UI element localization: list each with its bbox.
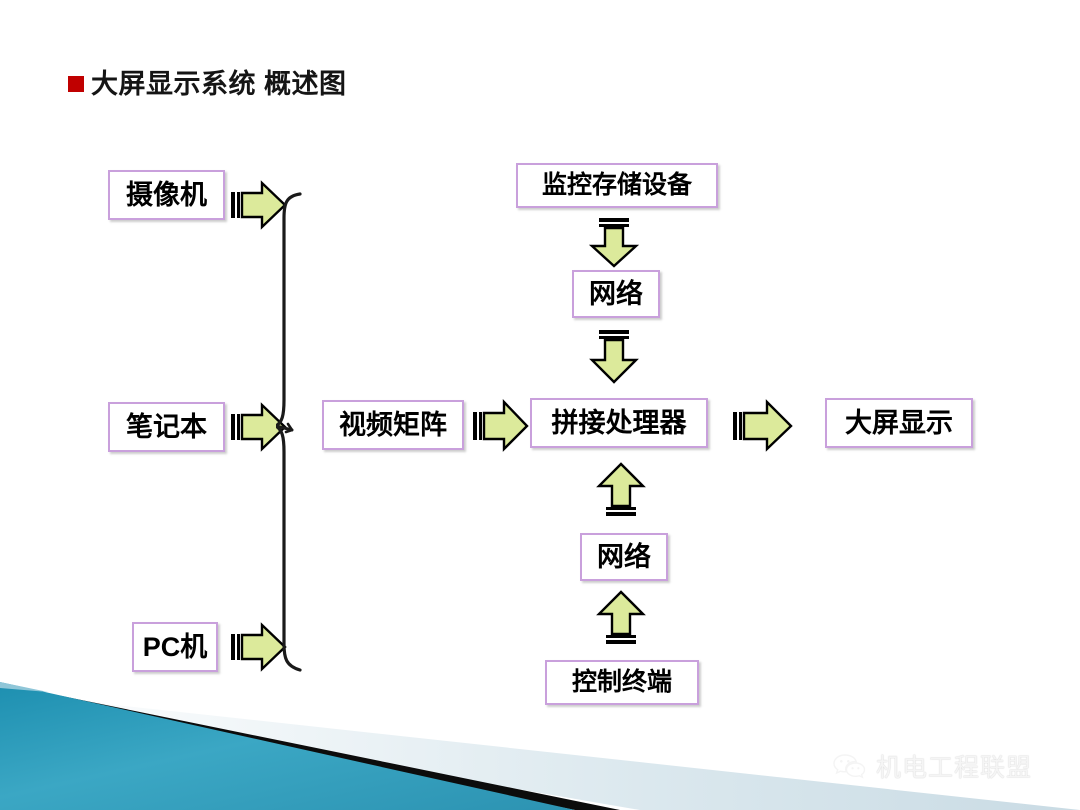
- title-bullet-icon: [68, 76, 84, 92]
- deco-black-stripe: [30, 694, 620, 810]
- arrow-storage-to-network-top: [587, 218, 643, 268]
- node-pc[interactable]: PC机: [132, 622, 218, 672]
- node-network-bottom-label: 网络: [597, 544, 651, 571]
- arrow-matrix-to-splicer: [473, 400, 529, 450]
- node-pc-label: PC机: [143, 634, 208, 661]
- node-network-bottom[interactable]: 网络: [580, 533, 668, 581]
- node-network-top-label: 网络: [589, 281, 643, 308]
- node-splicing-processor[interactable]: 拼接处理器: [530, 398, 708, 448]
- node-laptop-label: 笔记本: [126, 414, 207, 441]
- arrow-network-top-to-splicer: [587, 330, 643, 384]
- deco-top-edge: [0, 682, 48, 692]
- node-video-matrix-label: 视频矩阵: [339, 412, 447, 439]
- page-title: 大屏显示系统 概述图: [68, 62, 347, 101]
- watermark-text: 机电工程联盟: [876, 748, 1032, 784]
- node-storage-device[interactable]: 监控存储设备: [516, 163, 718, 208]
- wechat-icon: [833, 752, 867, 780]
- node-large-screen-display-label: 大屏显示: [845, 410, 953, 437]
- node-large-screen-display[interactable]: 大屏显示: [825, 398, 973, 448]
- node-splicing-processor-label: 拼接处理器: [552, 410, 687, 437]
- node-control-terminal-label: 控制终端: [572, 670, 672, 695]
- node-video-matrix[interactable]: 视频矩阵: [322, 400, 464, 450]
- node-control-terminal[interactable]: 控制终端: [545, 660, 699, 705]
- arrow-network-bottom-to-splicer: [594, 462, 650, 516]
- curly-brace-merge: [276, 192, 322, 672]
- title-text: 大屏显示系统 概述图: [91, 62, 347, 101]
- arrow-terminal-to-network-bottom: [594, 590, 650, 644]
- node-laptop[interactable]: 笔记本: [108, 402, 225, 452]
- node-camera[interactable]: 摄像机: [108, 170, 225, 220]
- arrow-splicer-to-display: [733, 400, 793, 450]
- watermark: 机电工程联盟: [833, 748, 1032, 784]
- node-network-top[interactable]: 网络: [572, 270, 660, 318]
- node-storage-device-label: 监控存储设备: [542, 173, 692, 198]
- slide-canvas: 大屏显示系统 概述图 摄像机 笔记本 PC机: [0, 0, 1080, 810]
- deco-teal-band: [0, 682, 575, 810]
- node-camera-label: 摄像机: [126, 182, 207, 209]
